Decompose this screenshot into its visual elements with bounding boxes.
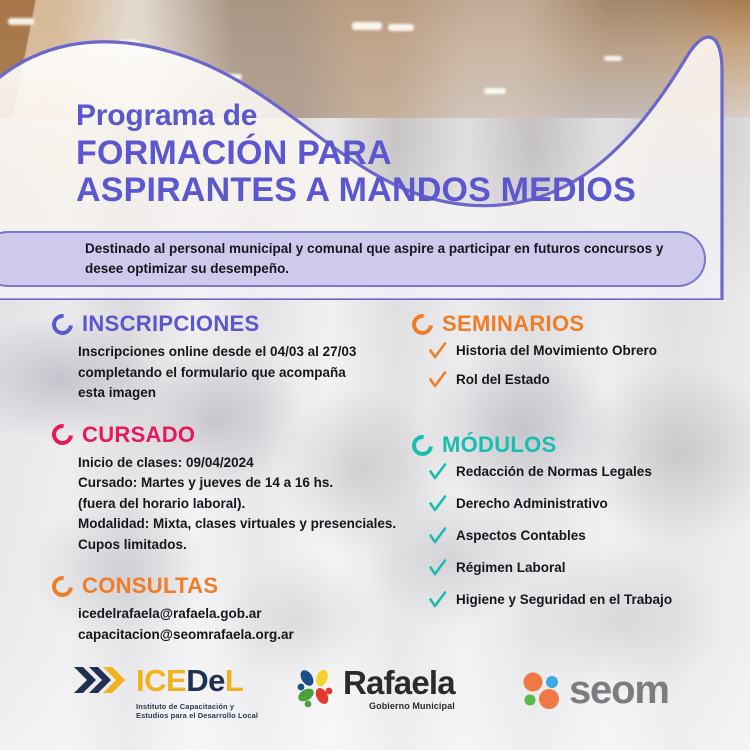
- section-body-consultas: icedelrafaela@rafaela.gob.ar capacitacio…: [78, 604, 432, 645]
- inscripciones-line-2: completando el formulario que acompaña: [78, 363, 432, 384]
- check-icon: [428, 371, 447, 390]
- seom-dots-icon: [521, 671, 561, 709]
- modulos-list: Redacción de Normas Legales Derecho Admi…: [428, 463, 732, 610]
- icedel-word-ice: ICE: [136, 663, 186, 698]
- seom-wordmark: seom: [569, 670, 669, 710]
- check-icon: [428, 495, 447, 514]
- check-icon: [428, 463, 447, 482]
- section-inscripciones: INSCRIPCIONES Inscripciones online desde…: [52, 313, 432, 404]
- list-item-label: Régimen Laboral: [456, 560, 566, 576]
- list-item-label: Redacción de Normas Legales: [456, 464, 652, 480]
- section-seminarios: SEMINARIOS Historia del Movimiento Obrer…: [412, 313, 732, 390]
- inscripciones-line-3: esta imagen: [78, 383, 432, 404]
- cursado-line-1: Inicio de clases: 09/04/2024: [78, 453, 432, 474]
- list-item: Rol del Estado: [428, 371, 732, 390]
- section-title-inscripciones: INSCRIPCIONES: [82, 313, 259, 335]
- section-title-seminarios: SEMINARIOS: [442, 313, 584, 335]
- section-consultas: CONSULTAS icedelrafaela@rafaela.gob.ar c…: [52, 575, 432, 645]
- section-cursado: CURSADO Inicio de clases: 09/04/2024 Cur…: [52, 424, 432, 556]
- list-item: Régimen Laboral: [428, 559, 732, 578]
- logo-row: ICEDeL Instituto de Capacitación y Estud…: [0, 658, 750, 730]
- check-icon: [428, 559, 447, 578]
- icedel-word-de: De: [186, 663, 225, 698]
- title-line-2: FORMACIÓN PARA: [76, 136, 636, 170]
- section-title-modulos: MÓDULOS: [442, 434, 557, 456]
- icedel-main: ICEDeL: [72, 662, 243, 698]
- seminarios-list: Historia del Movimiento Obrero Rol del E…: [428, 342, 732, 390]
- cursado-line-5: Cupos limitados.: [78, 535, 432, 556]
- section-header-modulos: MÓDULOS: [412, 434, 732, 456]
- icedel-wordmark: ICEDeL: [136, 665, 243, 696]
- list-item: Aspectos Contables: [428, 527, 732, 546]
- ring-icon-cursado: [48, 420, 77, 449]
- cursado-line-4: Modalidad: Mixta, clases virtuales y pre…: [78, 514, 432, 535]
- section-header-seminarios: SEMINARIOS: [412, 313, 732, 335]
- consultas-email-1[interactable]: icedelrafaela@rafaela.gob.ar: [78, 604, 432, 625]
- check-icon: [428, 342, 447, 361]
- cursado-line-3: (fuera del horario laboral).: [78, 494, 432, 515]
- list-item-label: Historia del Movimiento Obrero: [456, 343, 657, 359]
- title-line-1: Programa de: [76, 101, 636, 131]
- list-item: Higiene y Seguridad en el Trabajo: [428, 591, 732, 610]
- poster-root: Programa de FORMACIÓN PARA ASPIRANTES A …: [0, 0, 750, 750]
- check-icon: [428, 591, 447, 610]
- section-modulos: MÓDULOS Redacción de Normas Legales Dere…: [412, 434, 732, 610]
- ring-icon-consultas: [48, 571, 77, 600]
- ring-icon-modulos: [408, 430, 437, 459]
- icedel-chevrons-icon: [72, 662, 128, 698]
- rafaela-text: Rafaela Gobierno Municipal: [343, 666, 455, 711]
- list-item-label: Derecho Administrativo: [456, 496, 608, 512]
- right-column: SEMINARIOS Historia del Movimiento Obrer…: [412, 313, 732, 626]
- ring-icon-seminarios: [408, 309, 437, 338]
- check-icon: [428, 527, 447, 546]
- logo-icedel: ICEDeL Instituto de Capacitación y Estud…: [72, 662, 258, 721]
- list-item-label: Aspectos Contables: [456, 528, 586, 544]
- title-line-3: ASPIRANTES A MANDOS MEDIOS: [76, 173, 636, 207]
- icedel-tagline-line-1: Instituto de Capacitación y: [136, 702, 258, 711]
- section-title-cursado: CURSADO: [82, 424, 195, 446]
- subtitle-banner: Destinado al personal municipal y comuna…: [0, 231, 706, 287]
- logo-seom: seom: [521, 670, 669, 710]
- left-column: INSCRIPCIONES Inscripciones online desde…: [52, 313, 432, 661]
- section-body-cursado: Inicio de clases: 09/04/2024 Cursado: Ma…: [78, 453, 432, 556]
- page-title: Programa de FORMACIÓN PARA ASPIRANTES A …: [76, 101, 636, 207]
- rafaela-flower-icon: [296, 668, 336, 710]
- list-item-label: Rol del Estado: [456, 372, 550, 388]
- list-item: Historia del Movimiento Obrero: [428, 342, 732, 361]
- rafaela-tagline: Gobierno Municipal: [343, 701, 455, 711]
- rafaela-wordmark: Rafaela: [343, 666, 455, 699]
- icedel-word-l: L: [225, 663, 243, 698]
- section-body-inscripciones: Inscripciones online desde el 04/03 al 2…: [78, 342, 432, 404]
- logo-rafaela: Rafaela Gobierno Municipal: [296, 666, 455, 711]
- list-item: Redacción de Normas Legales: [428, 463, 732, 482]
- subtitle-text: Destinado al personal municipal y comuna…: [85, 239, 685, 278]
- cursado-line-2: Cursado: Martes y jueves de 14 a 16 hs.: [78, 473, 432, 494]
- section-header-cursado: CURSADO: [52, 424, 432, 446]
- section-title-consultas: CONSULTAS: [82, 575, 218, 597]
- icedel-tagline: Instituto de Capacitación y Estudios par…: [136, 702, 258, 721]
- list-item-label: Higiene y Seguridad en el Trabajo: [456, 592, 672, 608]
- inscripciones-line-1: Inscripciones online desde el 04/03 al 2…: [78, 342, 432, 363]
- ring-icon-inscripciones: [48, 309, 77, 338]
- section-header-inscripciones: INSCRIPCIONES: [52, 313, 432, 335]
- section-header-consultas: CONSULTAS: [52, 575, 432, 597]
- icedel-tagline-line-2: Estudios para el Desarrollo Local: [136, 711, 258, 720]
- consultas-email-2[interactable]: capacitacion@seomrafaela.org.ar: [78, 625, 432, 646]
- list-item: Derecho Administrativo: [428, 495, 732, 514]
